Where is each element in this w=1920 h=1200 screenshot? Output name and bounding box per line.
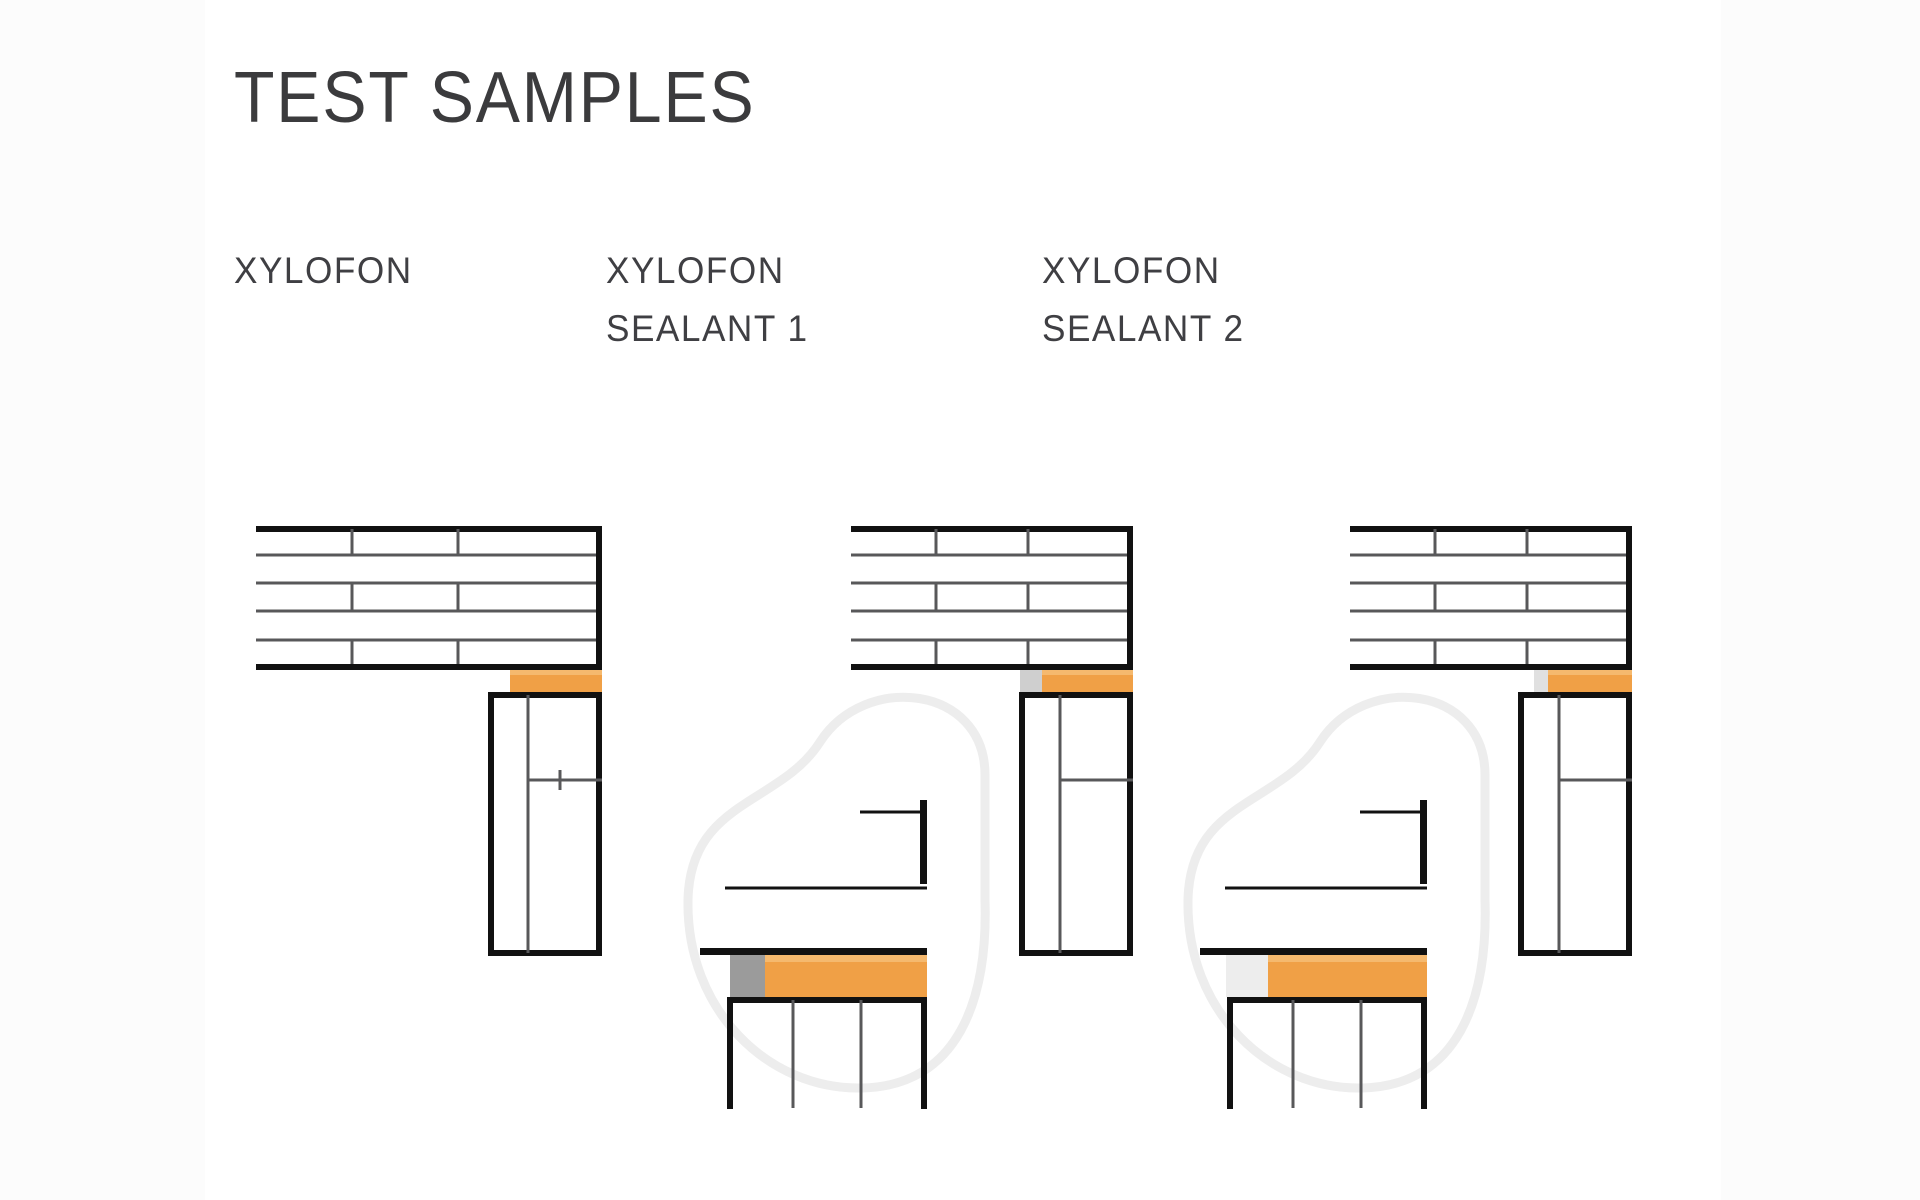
sample-3-orange-pad [1548,670,1632,692]
sample-3-grey-sealant [1534,670,1548,692]
sample-1-post [488,692,602,956]
sample-2-orange-pad [1042,670,1133,692]
sample-1-orange-pad [510,670,602,692]
screenshot-canvas: TEST SAMPLES XYLOFON XYLOFON SEALANT 1 X… [0,0,1920,1200]
test-samples-diagram [0,0,1920,1200]
sample-1-drawing [256,526,602,956]
sample-2-post [1019,692,1133,956]
sample-3-cladding [1350,526,1632,670]
sample-2-cladding [851,526,1133,670]
sample-1-cladding [256,526,602,670]
sample-3-post [1518,692,1632,956]
sample-2-drawing [688,526,1133,1109]
sample-3-drawing [1188,526,1632,1109]
sample-2-grey-sealant [1020,670,1042,692]
sample-3-detail-content [1200,800,1427,1109]
sample-2-detail-content [700,800,927,1109]
